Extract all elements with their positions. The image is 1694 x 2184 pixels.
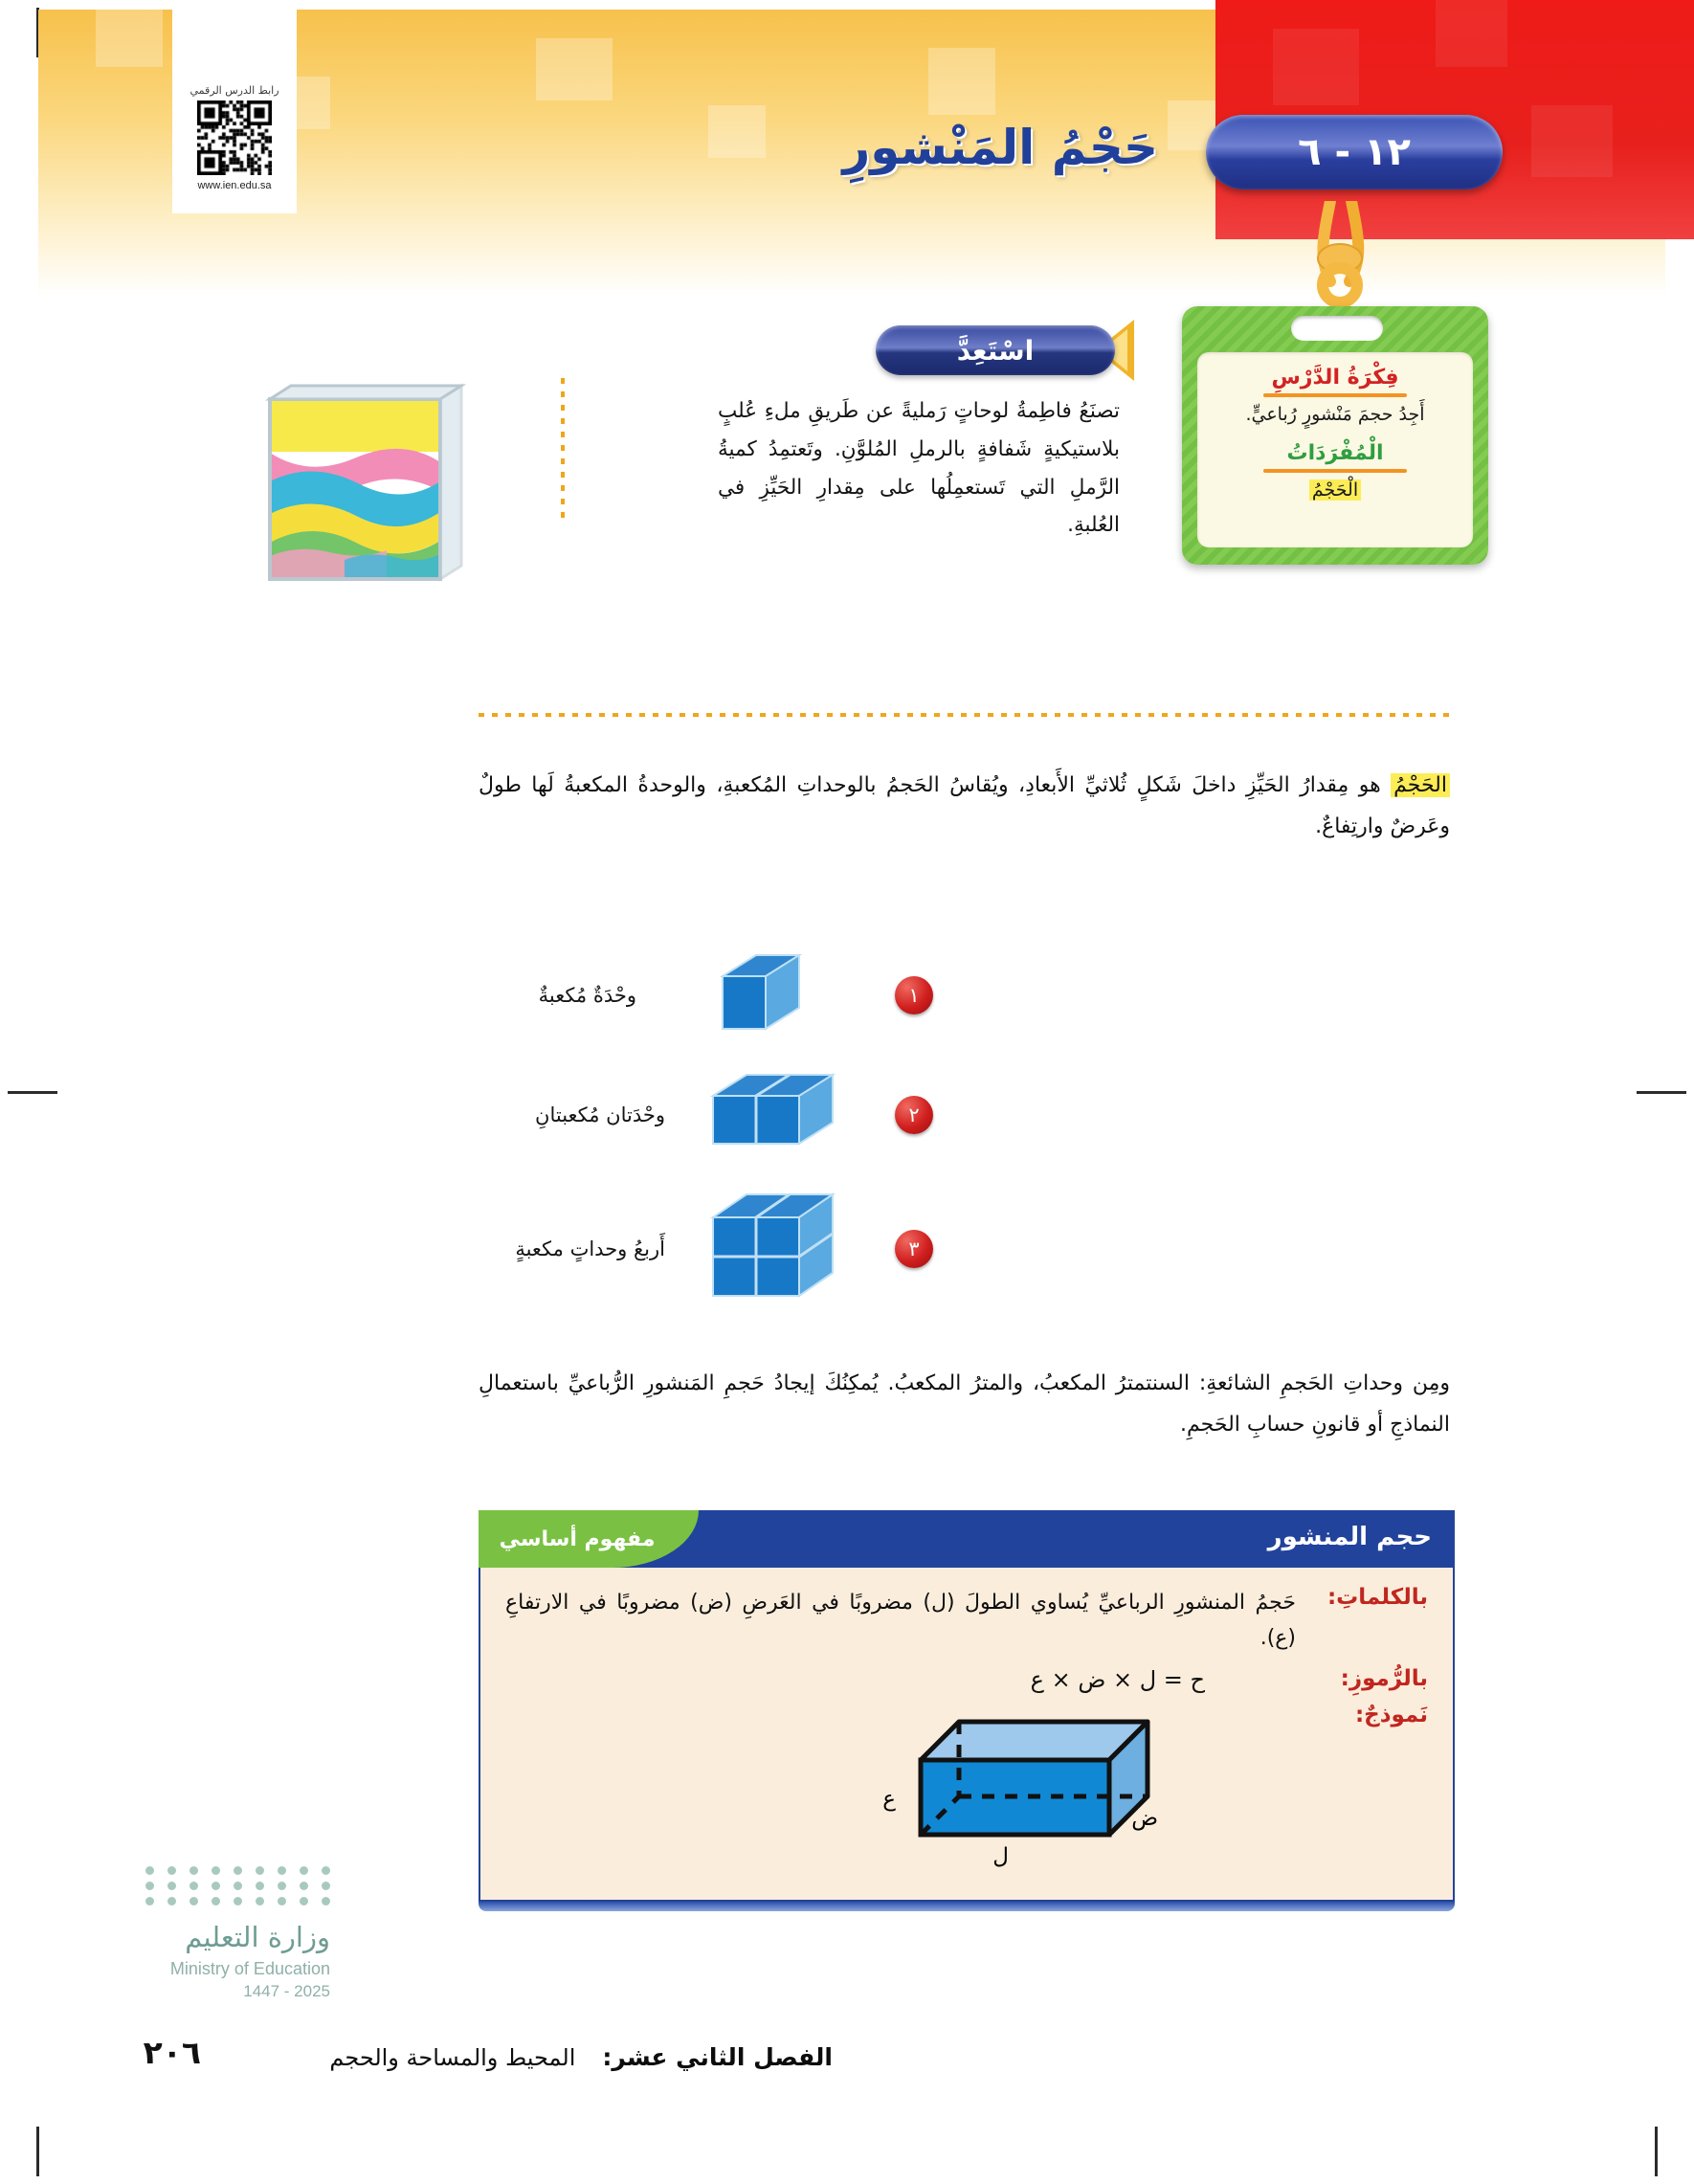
key-concept-tab: مفهوم أساسي <box>479 1510 699 1568</box>
qr-code-icon[interactable] <box>197 100 272 175</box>
lesson-info-card: فِكْرَةُ الدَّرْسِ أَجِدُ حجمَ مَنْشورٍ … <box>1182 306 1488 565</box>
vocabulary-rule <box>1263 469 1407 473</box>
lesson-idea-text: أَجِدُ حجمَ مَنْشورٍ رُباعيٍّ. <box>1211 403 1460 428</box>
cube-figure-4-units <box>703 1187 876 1311</box>
dotted-divider-vertical <box>561 378 565 522</box>
cube-example-number: ١ <box>895 976 933 1014</box>
lanyard-cord-icon <box>1302 201 1378 306</box>
lesson-idea-rule <box>1263 393 1407 397</box>
crop-mark-bottom-left <box>36 2127 39 2176</box>
vocabulary-heading: الْمُفْرَدَاتُ <box>1211 441 1460 465</box>
concept-model-row: نَموذجٌ: ع ض ل <box>505 1703 1428 1875</box>
concept-words-label: بالكلماتِ: <box>1315 1585 1428 1657</box>
concept-words-row: بالكلماتِ: حَجمُ المنشورِ الرباعيِّ يُسا… <box>505 1585 1428 1657</box>
crop-mark-bottom-right <box>1655 2127 1658 2176</box>
concept-symbols-formula: ح = ل × ض × ع <box>1031 1666 1296 1693</box>
prism-width-label: ض <box>1131 1806 1158 1831</box>
key-concept-body: بالكلماتِ: حَجمُ المنشورِ الرباعيِّ يُسا… <box>479 1568 1455 1902</box>
concept-words-text: حَجمُ المنشورِ الرباعيِّ يُساوي الطولَ (… <box>505 1585 1296 1657</box>
lesson-idea-heading: فِكْرَةُ الدَّرْسِ <box>1211 366 1460 390</box>
ministry-logo: وزارة التعليم Ministry of Education 2025… <box>91 1866 330 2001</box>
cube-example-number: ٢ <box>895 1096 933 1134</box>
cube-example-row-1: ١ وحْدَةٌ مُكعبةٌ <box>539 947 933 1043</box>
ministry-dots-icon <box>139 1866 330 1905</box>
vocabulary-list: الْحَجْمُ <box>1211 479 1460 503</box>
lesson-info-inner: فِكْرَةُ الدَّرْسِ أَجِدُ حجمَ مَنْشورٍ … <box>1197 352 1473 547</box>
cube-example-label: أَربعُ وحداتٍ مكعبةٍ <box>515 1237 665 1260</box>
prism-length-label: ل <box>992 1844 1009 1869</box>
key-concept-box: حجم المنشور مفهوم أساسي بالكلماتِ: حَجمُ… <box>479 1510 1455 1911</box>
key-concept-header: حجم المنشور مفهوم أساسي <box>479 1510 1455 1568</box>
cube-example-number: ٣ <box>895 1230 933 1268</box>
volume-definition-text: هو مِقدارُ الحَيِّزِ داخلَ شَكلٍ ثُلاثيِ… <box>479 773 1450 838</box>
footer-chapter-info: الفصل الثاني عشر: المحيط والمساحة والحجم <box>329 2043 833 2071</box>
lesson-number-badge: ١٢ - ٦ <box>1206 115 1503 189</box>
digital-lesson-link[interactable]: رابط الدرس الرقمي www.ien.edu.sa <box>175 84 294 191</box>
ministry-year: 2025 - 1447 <box>91 1982 330 2001</box>
cube-example-label: وحْدَةٌ مُكعبةٌ <box>539 984 636 1007</box>
prism-model-wrap: ع ض ل <box>505 1703 1296 1875</box>
vocabulary-term: الْحَجْمُ <box>1309 479 1361 501</box>
ministry-name-en: Ministry of Education <box>91 1959 330 1979</box>
prism-height-label: ع <box>882 1787 896 1812</box>
concept-symbols-label: بالرُّموزِ: <box>1315 1666 1428 1693</box>
ministry-name-ar: وزارة التعليم <box>91 1921 330 1953</box>
cube-example-row-3: ٣ أَربعُ وحداتٍ مكعبةٍ <box>515 1187 933 1311</box>
volume-definition-paragraph: الحَجْمُ هو مِقدارُ الحَيِّزِ داخلَ شَكل… <box>479 766 1450 848</box>
page-number: ٢٠٦ <box>144 2034 201 2071</box>
cube-figure-1-unit <box>703 947 847 1043</box>
cube-example-label: وحْدَتان مُكعبتانِ <box>535 1103 665 1126</box>
sand-art-photo <box>249 378 469 598</box>
ready-paragraph: تصنَعُ فاطِمةُ لوحاتٍ رَمليةً عن طَريقِ … <box>718 392 1120 545</box>
volume-units-paragraph: ومِن وحداتِ الحَجمِ الشائعةِ: السنتمترُ … <box>479 1364 1450 1446</box>
volume-term-highlight: الحَجْمُ <box>1391 773 1450 797</box>
page-title: حَجْمُ المَنْشورِ <box>842 120 1158 175</box>
crop-mark-left-mid <box>8 1091 57 1094</box>
qr-caption: رابط الدرس الرقمي <box>175 84 294 97</box>
concept-symbols-row: بالرُّموزِ: ح = ل × ض × ع <box>505 1666 1428 1693</box>
qr-url-label: www.ien.edu.sa <box>175 180 294 191</box>
key-concept-bottom-bar <box>479 1902 1455 1911</box>
ready-banner: اسْتَعِدَّ <box>876 325 1115 375</box>
key-concept-title: حجم المنشور <box>1268 1523 1432 1551</box>
dotted-divider-horizontal <box>479 713 1455 717</box>
ready-banner-label: اسْتَعِدَّ <box>957 335 1035 367</box>
concept-model-label: نَموذجٌ: <box>1315 1703 1428 1875</box>
cube-example-row-2: ٢ وحْدَتان مُكعبتانِ <box>535 1067 933 1163</box>
crop-mark-right-mid <box>1637 1091 1686 1094</box>
card-hole <box>1291 316 1383 341</box>
key-concept-tab-label: مفهوم أساسي <box>500 1527 656 1551</box>
rectangular-prism-figure: ع ض ل <box>875 1703 1191 1875</box>
footer-chapter-label: الفصل الثاني عشر: <box>602 2043 833 2071</box>
footer-chapter-subject: المحيط والمساحة والحجم <box>329 2044 575 2071</box>
lesson-number-label: ١٢ - ٦ <box>1298 130 1411 174</box>
cube-figure-2-units <box>703 1067 876 1163</box>
